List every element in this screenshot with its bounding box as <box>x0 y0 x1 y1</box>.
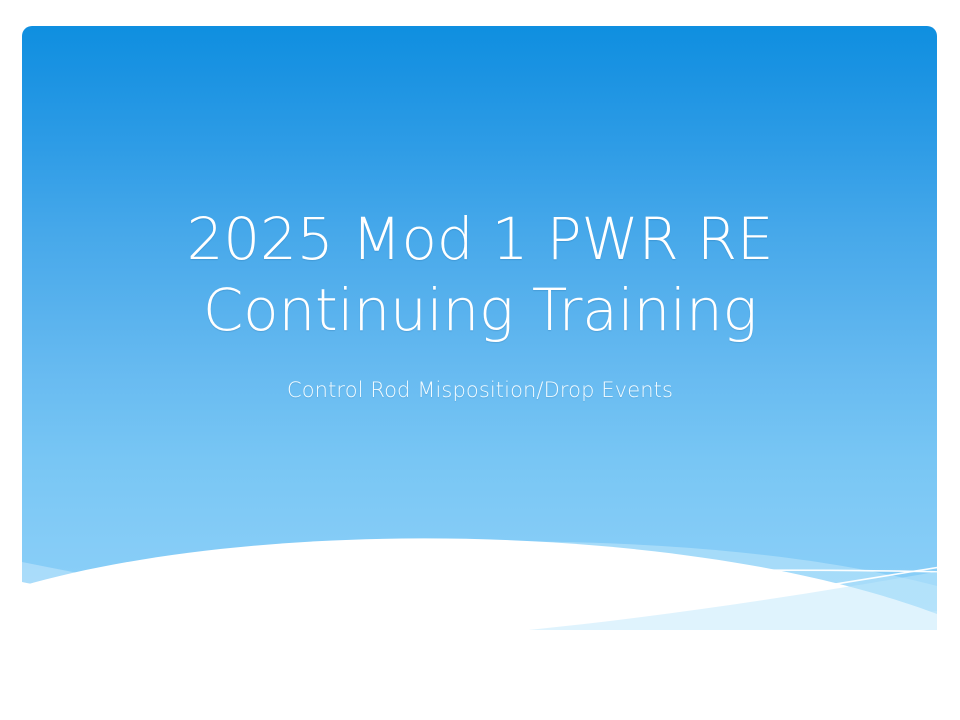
page-title: 2025 Mod 1 PWR RE Continuing Training <box>80 204 880 346</box>
page-subtitle: Control Rod Misposition/Drop Events <box>160 376 800 404</box>
slide-canvas: 2025 Mod 1 PWR RE Continuing Training Co… <box>0 0 960 720</box>
